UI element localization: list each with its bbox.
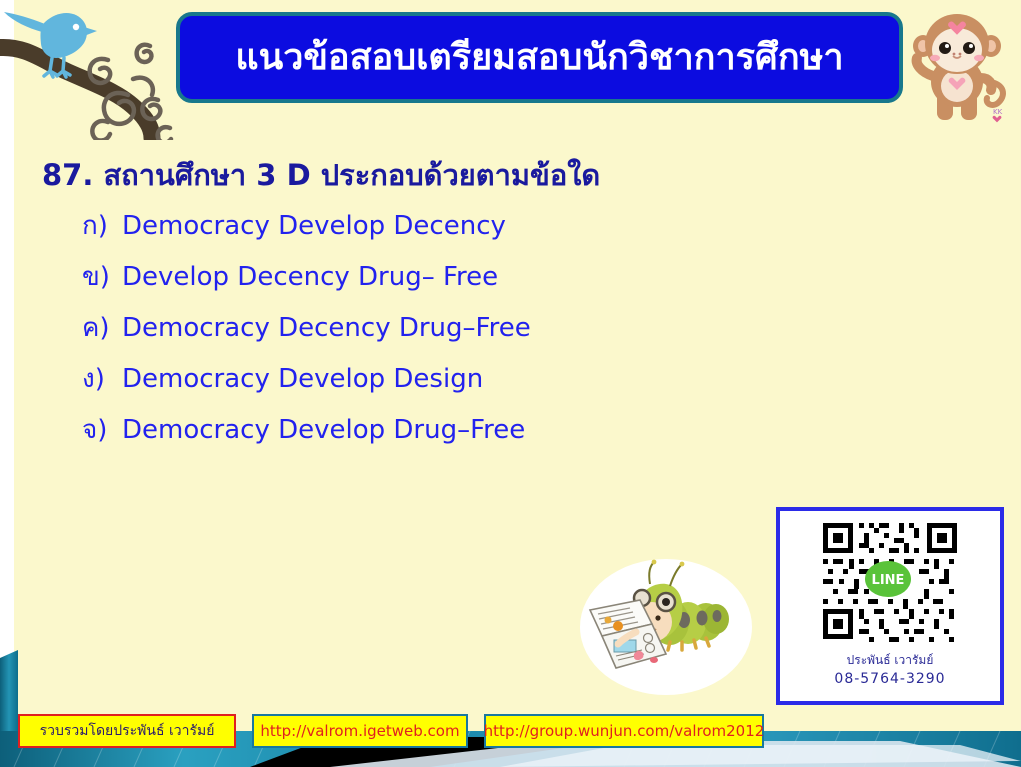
- footer-credit-box[interactable]: รวบรวมโดยประพันธ์ เวารัมย์: [18, 714, 236, 748]
- option-letter: จ): [82, 409, 122, 450]
- option-label: Democracy Develop Drug–Free: [122, 415, 525, 445]
- option-label: Democracy Develop Decency: [122, 211, 506, 241]
- qr-phone-number: 08-5764-3290: [834, 671, 945, 687]
- option-letter: ข): [82, 256, 122, 297]
- caterpillar-reading-icon: [578, 556, 753, 698]
- line-logo-icon: LINE: [865, 561, 911, 597]
- title-banner: แนวข้อสอบเตรียมสอบนักวิชาการศึกษา: [176, 12, 903, 103]
- answer-option-1[interactable]: ก) Democracy Develop Decency: [82, 205, 531, 256]
- svg-text:KK: KK: [993, 108, 1003, 116]
- option-letter: ก): [82, 205, 122, 246]
- option-letter: ค): [82, 307, 122, 348]
- page-title: แนวข้อสอบเตรียมสอบนักวิชาการศึกษา: [235, 40, 843, 76]
- footer-links: รวบรวมโดยประพันธ์ เวารัมย์ http://valrom…: [18, 714, 764, 748]
- answer-option-4[interactable]: ง) Democracy Develop Design: [82, 358, 531, 409]
- option-label: Democracy Decency Drug–Free: [122, 313, 531, 343]
- option-label: Democracy Develop Design: [122, 364, 483, 394]
- answer-options-list: ก) Democracy Develop Decency ข) Develop …: [82, 205, 531, 460]
- question-text: 87. สถานศึกษา 3 D ประกอบด้วยตามข้อใด: [42, 152, 600, 198]
- option-label: Develop Decency Drug– Free: [122, 262, 498, 292]
- monkey-icon: KK: [903, 4, 1015, 129]
- qr-code-image: LINE: [815, 517, 965, 649]
- answer-option-5[interactable]: จ) Democracy Develop Drug–Free: [82, 409, 531, 460]
- footer-link-wunjun[interactable]: http://group.wunjun.com/valrom2012: [484, 714, 764, 748]
- svg-text:LINE: LINE: [872, 573, 905, 588]
- option-letter: ง): [82, 358, 122, 399]
- footer-link-valrom[interactable]: http://valrom.igetweb.com: [252, 714, 468, 748]
- qr-contact-card[interactable]: LINE ประพันธ์ เวารัมย์ 08-5764-3290: [776, 507, 1004, 705]
- slide-canvas: KK แนวข้อสอบเตรียมสอบนักวิชาการศึกษา 87.…: [0, 0, 1021, 767]
- answer-option-2[interactable]: ข) Develop Decency Drug– Free: [82, 256, 531, 307]
- answer-option-3[interactable]: ค) Democracy Decency Drug–Free: [82, 307, 531, 358]
- qr-owner-name: ประพันธ์ เวารัมย์: [847, 651, 934, 670]
